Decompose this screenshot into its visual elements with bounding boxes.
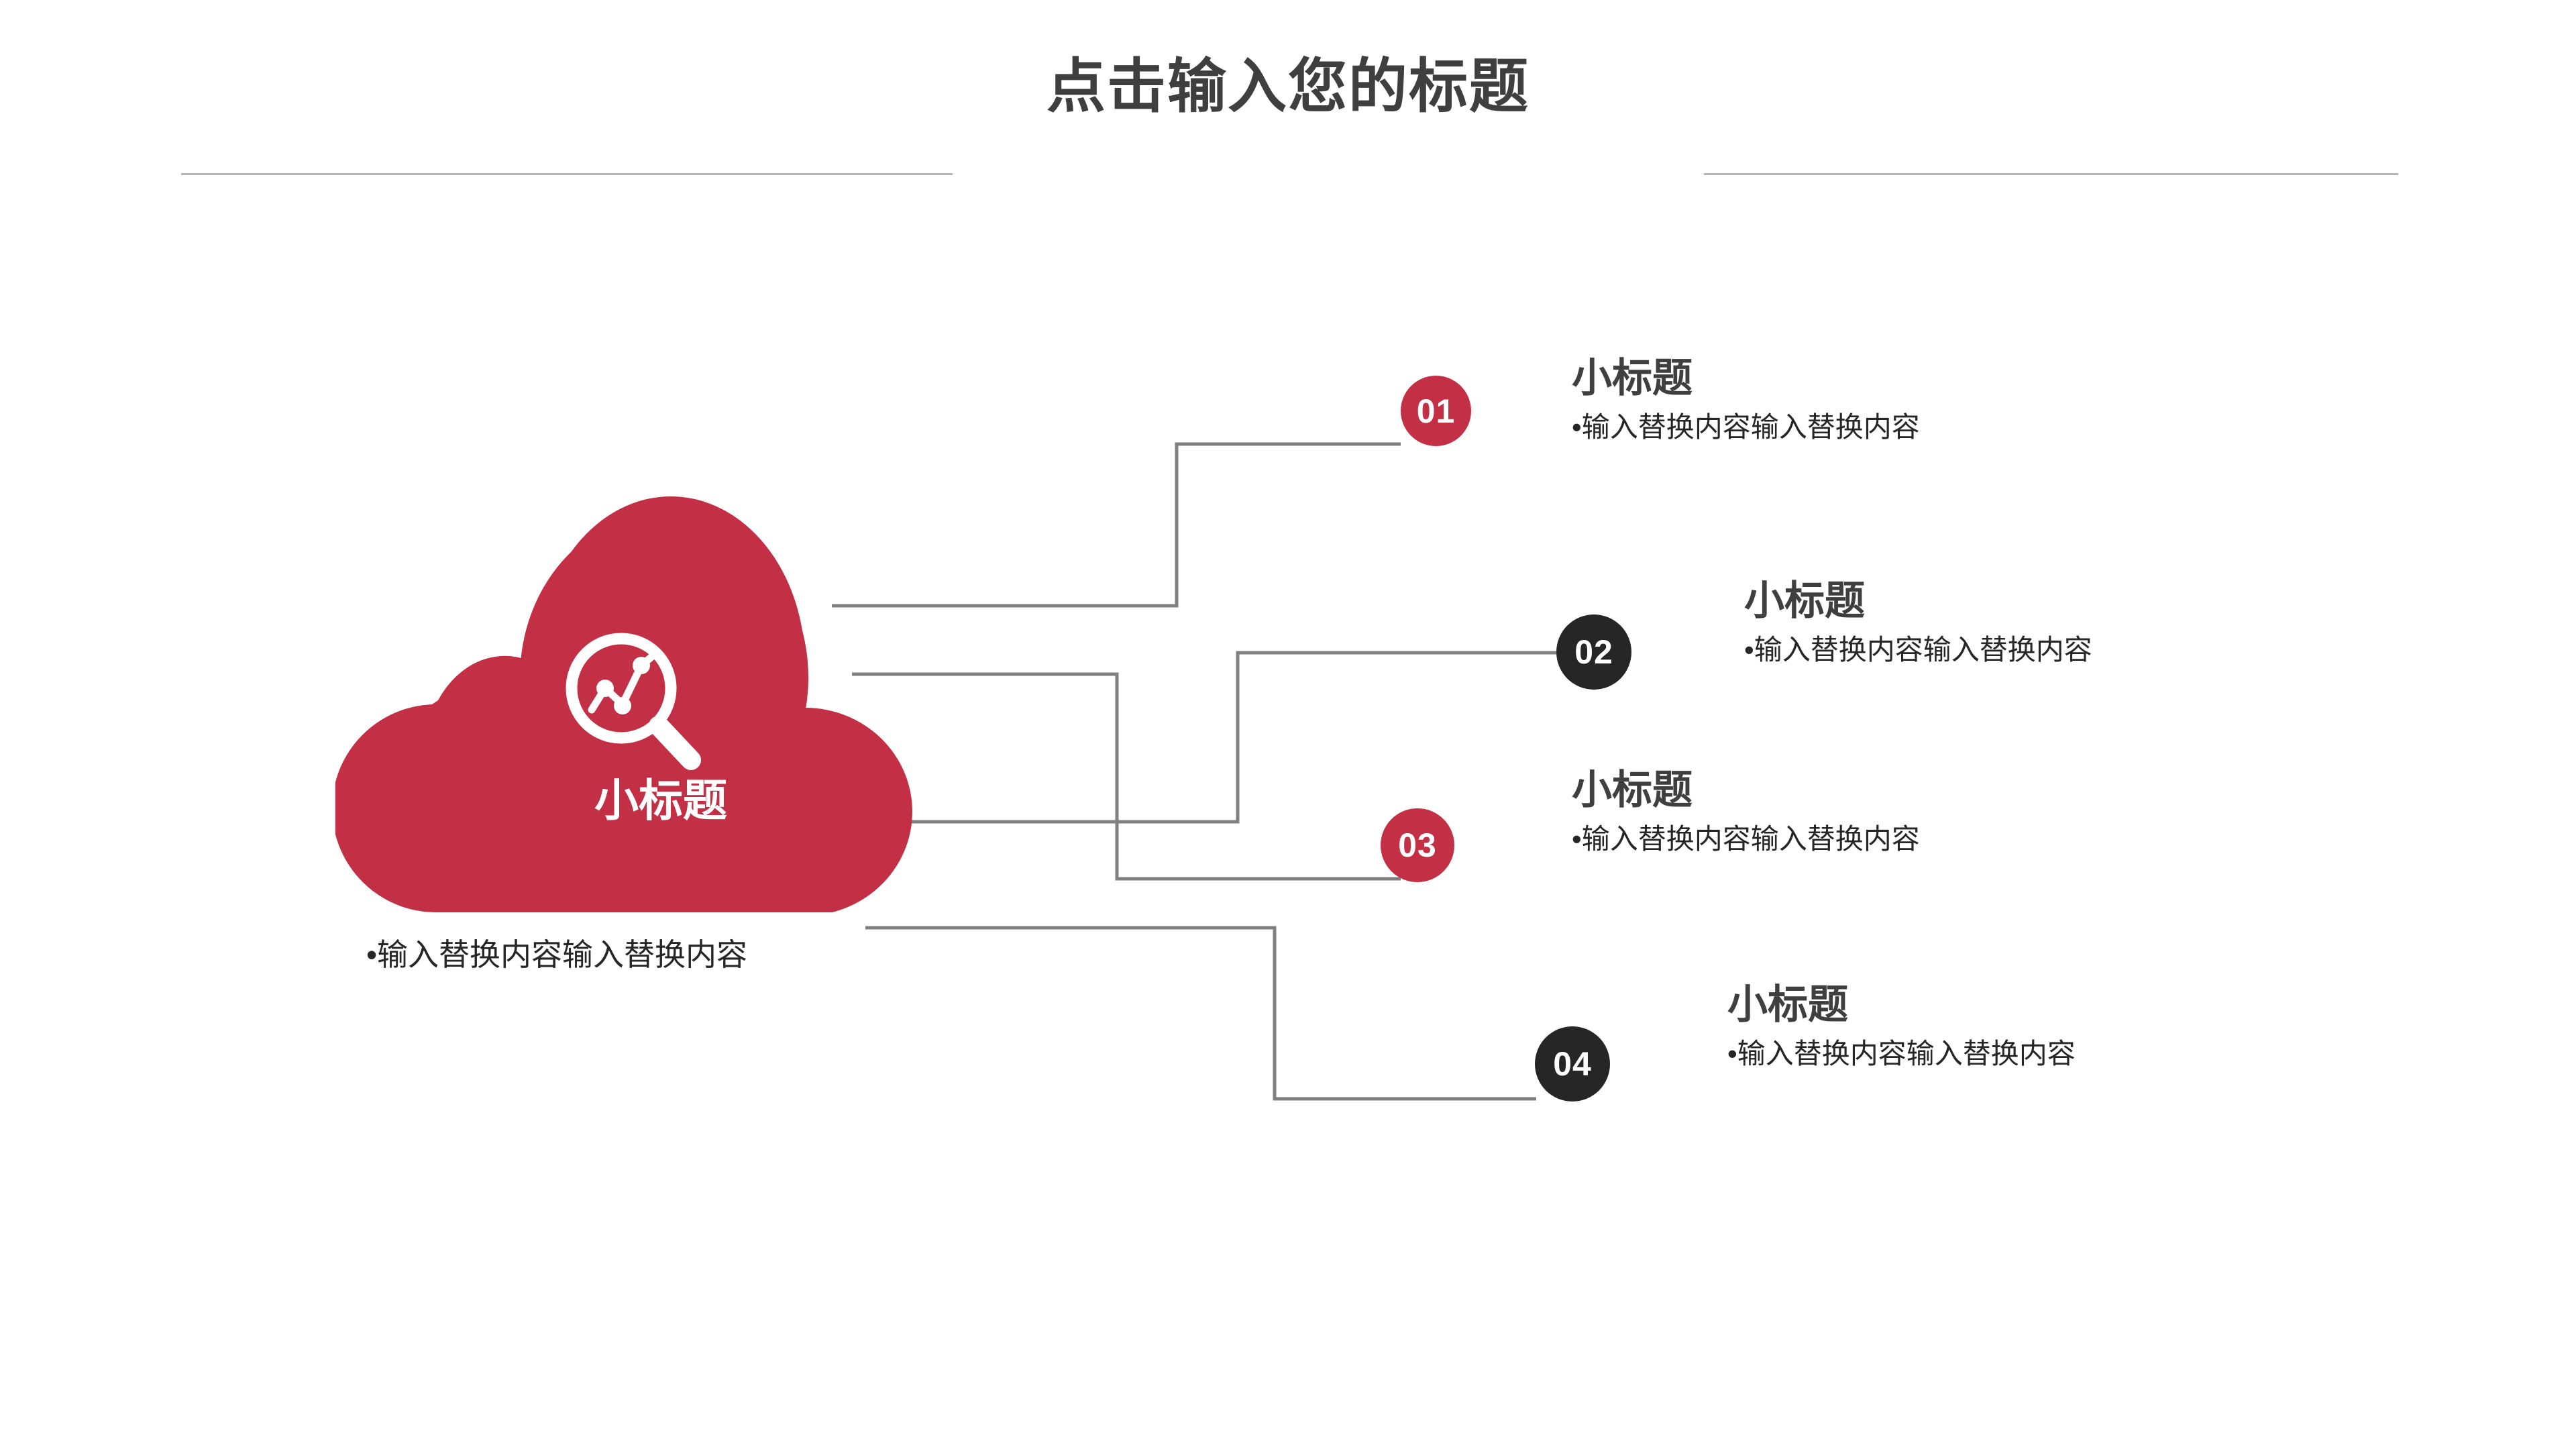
slide-canvas: 点击输入您的标题 [0,0,2576,1449]
connector-line-04 [865,928,1536,1099]
page-title: 点击输入您的标题 [0,57,2576,116]
item-title-03: 小标题 [1572,770,1920,810]
title-rule-right [1704,173,2398,175]
item-desc-04: •输入替换内容输入替换内容 [1727,1040,2076,1068]
badge-number-04: 04 [1553,1047,1592,1081]
cloud-caption: •输入替换内容输入替换内容 [255,939,859,970]
item-text-03: 小标题 •输入替换内容输入替换内容 [1572,770,1920,853]
badge-01[interactable]: 01 [1401,376,1471,446]
item-title-01: 小标题 [1572,358,1920,398]
item-text-04: 小标题 •输入替换内容输入替换内容 [1727,985,2076,1068]
item-title-04: 小标题 [1727,985,2076,1025]
badge-number-01: 01 [1417,394,1456,428]
item-desc-03: •输入替换内容输入替换内容 [1572,825,1920,853]
item-text-02: 小标题 •输入替换内容输入替换内容 [1744,581,2092,664]
badge-03[interactable]: 03 [1381,808,1454,882]
cloud-label: 小标题 [335,778,986,822]
title-rule-left [181,173,953,175]
cloud-shape[interactable]: 小标题 [335,496,986,912]
badge-number-03: 03 [1398,828,1437,862]
item-text-01: 小标题 •输入替换内容输入替换内容 [1572,358,1920,441]
badge-04[interactable]: 04 [1535,1026,1610,1102]
item-desc-01: •输入替换内容输入替换内容 [1572,413,1920,441]
badge-02[interactable]: 02 [1556,614,1631,690]
item-desc-02: •输入替换内容输入替换内容 [1744,636,2092,664]
magnifier-chart-icon [557,624,711,778]
item-title-02: 小标题 [1744,581,2092,621]
badge-number-02: 02 [1574,635,1613,669]
